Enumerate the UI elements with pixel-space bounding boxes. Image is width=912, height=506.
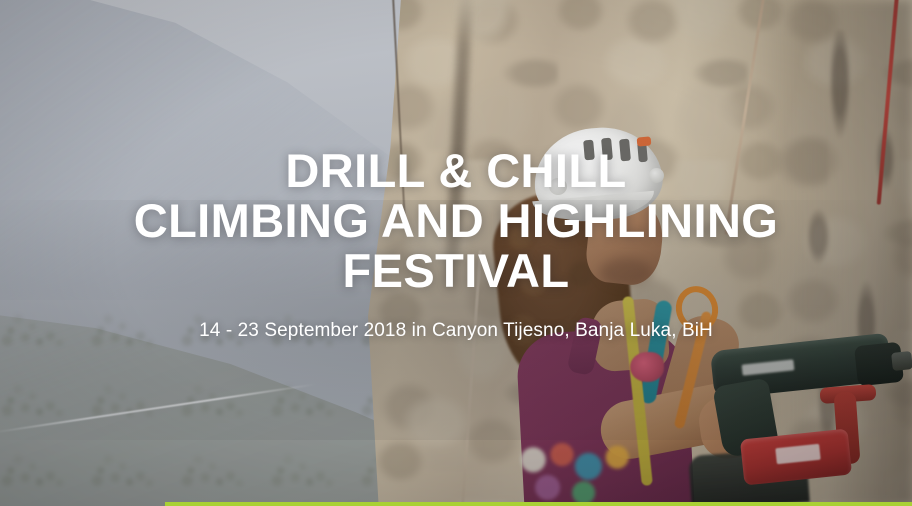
hero-title-line-3: FESTIVAL xyxy=(134,246,779,296)
hero-subtitle: 14 - 23 September 2018 in Canyon Tijesno… xyxy=(199,319,713,343)
hero-title: DRILL & CHILL CLIMBING AND HIGHLINING FE… xyxy=(134,146,779,296)
hero-content: DRILL & CHILL CLIMBING AND HIGHLINING FE… xyxy=(0,0,912,506)
page-loading-bar-fill xyxy=(165,502,912,506)
hero-title-line-2: CLIMBING AND HIGHLINING xyxy=(134,196,779,246)
page-loading-bar xyxy=(0,502,912,506)
hero-banner: DRILL & CHILL CLIMBING AND HIGHLINING FE… xyxy=(0,0,912,506)
hero-title-line-1: DRILL & CHILL xyxy=(134,146,779,196)
